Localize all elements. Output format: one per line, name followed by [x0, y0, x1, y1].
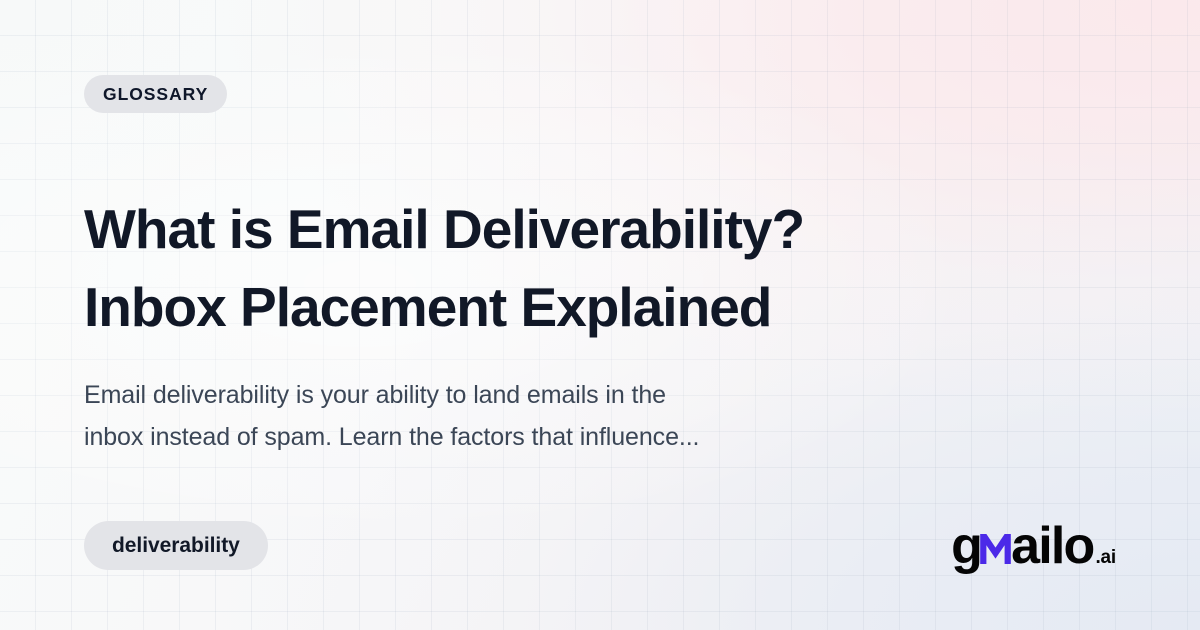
og-card: GLOSSARY What is Email Deliverability? I… — [0, 0, 1200, 630]
page-description-line-2: inbox instead of spam. Learn the factors… — [84, 417, 854, 459]
brand-logo-tld: .ai — [1095, 548, 1116, 567]
category-badge-label: GLOSSARY — [103, 84, 208, 105]
brand-logo: g ailo .ai — [951, 520, 1116, 572]
category-badge: GLOSSARY — [84, 75, 227, 113]
page-title: What is Email Deliverability? Inbox Plac… — [84, 190, 964, 346]
brand-logo-wordmark: g ailo — [951, 520, 1093, 572]
tag-badge-label: deliverability — [112, 534, 240, 558]
page-title-line-2: Inbox Placement Explained — [84, 268, 964, 346]
brand-logo-text-before: g — [951, 520, 981, 572]
brand-logo-text-after: ailo — [1011, 520, 1093, 572]
gmail-m-icon — [979, 534, 1012, 564]
tag-badge: deliverability — [84, 521, 268, 570]
page-description: Email deliverability is your ability to … — [84, 375, 854, 458]
page-description-line-1: Email deliverability is your ability to … — [84, 375, 854, 417]
page-title-line-1: What is Email Deliverability? — [84, 190, 964, 268]
card-content: GLOSSARY What is Email Deliverability? I… — [0, 0, 1200, 630]
